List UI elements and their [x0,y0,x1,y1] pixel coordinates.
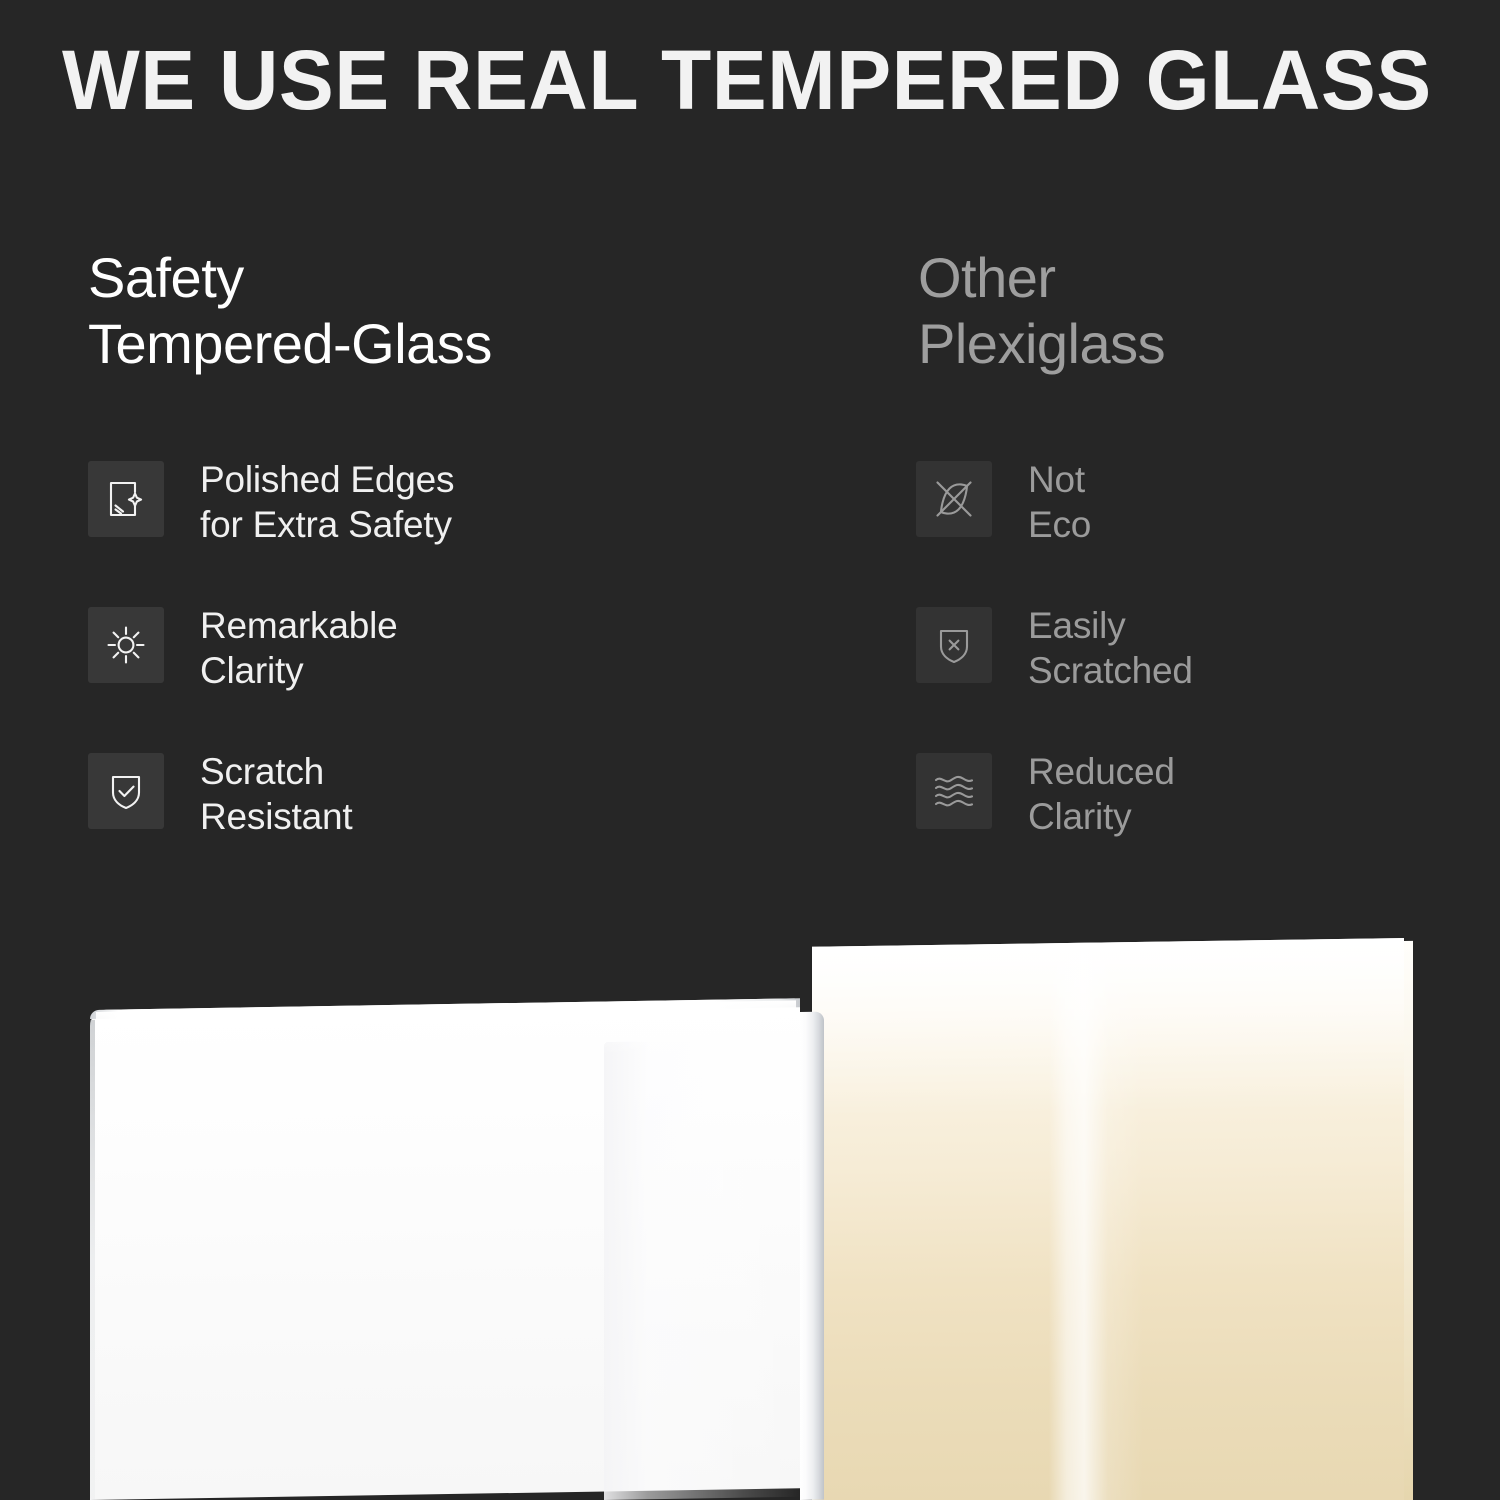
feature-row: Remarkable Clarity [88,601,728,747]
feature-list-left: Polished Edges for Extra Safety Remarkab… [88,455,728,893]
column-heading-left: Safety Tempered-Glass [88,245,708,376]
feature-label: Reduced Clarity [1028,747,1175,839]
page-title: WE USE REAL TEMPERED GLASS [62,38,1424,122]
feature-label: Polished Edges for Extra Safety [200,455,454,547]
feature-row: Not Eco [916,455,1500,601]
column-safety-tempered-glass: Safety Tempered-Glass [88,245,708,376]
feature-label: Remarkable Clarity [200,601,397,693]
sun-brightness-icon [88,607,164,683]
feature-row: Polished Edges for Extra Safety [88,455,728,601]
column-other-plexiglass: Other Plexiglass [918,245,1500,376]
white-tempered-glass-panel [90,998,800,1500]
shield-x-icon [916,607,992,683]
white-panel-edge-thickness [800,1012,824,1500]
leaf-crossed-out-icon [916,461,992,537]
shield-check-icon [88,753,164,829]
cream-plexiglass-panel [812,938,1404,1500]
feature-row: Easily Scratched [916,601,1500,747]
wavy-lines-icon [916,753,992,829]
product-panels-image [0,860,1500,1500]
feature-label: Easily Scratched [1028,601,1193,693]
feature-label: Scratch Resistant [200,747,352,839]
feature-label: Not Eco [1028,455,1091,547]
glass-pane-sparkle-icon [88,461,164,537]
column-heading-right: Other Plexiglass [918,245,1500,376]
feature-list-right: Not Eco Easily Scratched Reduced Cla [916,455,1500,893]
infographic-root: WE USE REAL TEMPERED GLASS Safety Temper… [0,0,1500,1500]
